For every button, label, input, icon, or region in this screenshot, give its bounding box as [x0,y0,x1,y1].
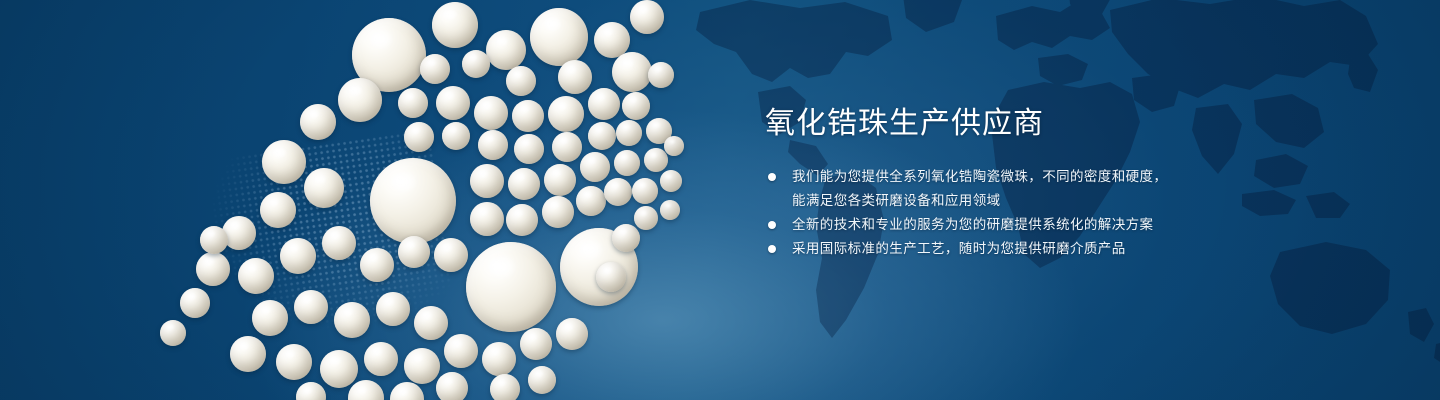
bullet-dot-icon [768,173,776,181]
zirconia-bead [404,122,434,152]
zirconia-bead [348,380,384,400]
zirconia-bead [404,348,440,384]
zirconia-bead [280,238,316,274]
zirconia-bead [612,224,640,252]
zirconia-bead [556,318,588,350]
zirconia-bead [180,288,210,318]
zirconia-bead [276,344,312,380]
zirconia-bead [398,236,430,268]
zirconia-bead [512,100,544,132]
zirconia-bead [664,136,684,156]
zirconia-bead [506,204,538,236]
zirconia-bead [420,54,450,84]
hero-banner: 氧化锆珠生产供应商 我们能为您提供全系列氧化锆陶瓷微珠，不同的密度和硬度， 能满… [0,0,1440,400]
zirconia-bead [634,206,658,230]
zirconia-bead [482,342,516,376]
zirconia-bead [360,248,394,282]
zirconia-bead [262,140,306,184]
zirconia-bead [370,158,456,244]
zirconia-bead [486,30,526,70]
zirconia-bead [414,306,448,340]
zirconia-bead [604,178,632,206]
zirconia-bead [322,226,356,260]
zirconia-bead [528,366,556,394]
zirconia-bead [660,200,680,220]
zirconia-bead [296,382,326,400]
zirconia-bead [334,302,370,338]
zirconia-bead [390,382,424,400]
zirconia-bead [466,242,556,332]
zirconia-bead [196,252,230,286]
bullet-line: 我们能为您提供全系列氧化锆陶瓷微珠，不同的密度和硬度， [792,165,1235,189]
zirconia-bead [474,96,508,130]
zirconia-beads-image [0,0,760,400]
zirconia-bead [434,238,468,272]
bullet-item: 全新的技术和专业的服务为您的研磨提供系统化的解决方案 [765,213,1235,237]
zirconia-bead [552,132,582,162]
zirconia-bead [300,104,336,140]
zirconia-bead [200,226,228,254]
zirconia-bead [660,170,682,192]
zirconia-bead [376,292,410,326]
zirconia-bead [630,0,664,34]
zirconia-bead [520,328,552,360]
zirconia-bead [588,88,620,120]
bullet-item: 我们能为您提供全系列氧化锆陶瓷微珠，不同的密度和硬度， 能满足您各类研磨设备和应… [765,165,1235,213]
bullet-line: 能满足您各类研磨设备和应用领域 [792,189,1235,213]
bullet-line: 全新的技术和专业的服务为您的研磨提供系统化的解决方案 [792,213,1235,237]
zirconia-bead [364,342,398,376]
bullet-dot-icon [768,221,776,229]
zirconia-bead [462,50,490,78]
zirconia-bead [444,334,478,368]
zirconia-bead [622,92,650,120]
zirconia-bead [542,196,574,228]
zirconia-bead [548,96,584,132]
zirconia-bead [320,350,358,388]
zirconia-bead [530,8,588,66]
zirconia-bead [230,336,266,372]
zirconia-bead [588,122,616,150]
zirconia-bead [616,120,642,146]
zirconia-bead [644,148,668,172]
zirconia-bead [508,168,540,200]
zirconia-bead [514,134,544,164]
bullet-line: 采用国际标准的生产工艺，随时为您提供研磨介质产品 [792,237,1235,261]
zirconia-bead [398,88,428,118]
banner-headline: 氧化锆珠生产供应商 [765,104,1235,144]
zirconia-bead [436,372,468,400]
banner-bullet-list: 我们能为您提供全系列氧化锆陶瓷微珠，不同的密度和硬度， 能满足您各类研磨设备和应… [765,165,1235,261]
zirconia-bead [478,130,508,160]
zirconia-bead [160,320,186,346]
zirconia-bead [632,178,658,204]
zirconia-bead [596,262,626,292]
zirconia-bead [614,150,640,176]
zirconia-bead [490,374,520,400]
bullet-dot-icon [768,245,776,253]
zirconia-bead [304,168,344,208]
zirconia-bead [470,164,504,198]
zirconia-bead [580,152,610,182]
banner-content: 氧化锆珠生产供应商 我们能为您提供全系列氧化锆陶瓷微珠，不同的密度和硬度， 能满… [765,104,1235,261]
zirconia-bead [506,66,536,96]
zirconia-bead [238,258,274,294]
zirconia-bead [252,300,288,336]
zirconia-bead [558,60,592,94]
zirconia-bead [260,192,296,228]
zirconia-bead [470,202,504,236]
zirconia-bead [544,164,576,196]
zirconia-bead [338,78,382,122]
zirconia-bead [442,122,470,150]
zirconia-bead [648,62,674,88]
zirconia-bead [432,2,478,48]
zirconia-bead [612,52,652,92]
zirconia-bead [294,290,328,324]
zirconia-bead [576,186,606,216]
zirconia-bead [436,86,470,120]
bullet-item: 采用国际标准的生产工艺，随时为您提供研磨介质产品 [765,237,1235,261]
